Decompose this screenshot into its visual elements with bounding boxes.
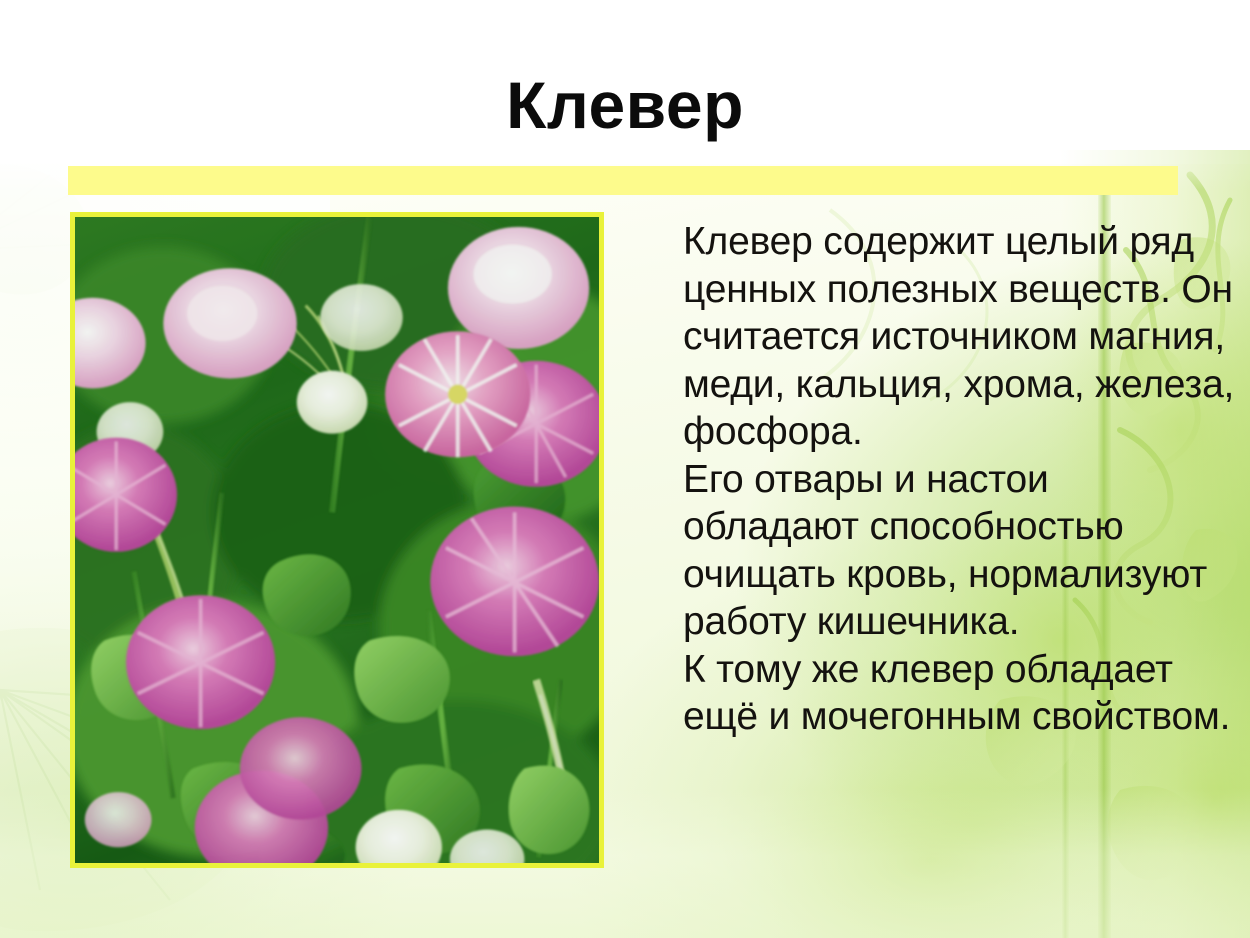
paragraph-3: К тому же клевер обладает ещё и мочегонн… xyxy=(683,646,1235,741)
paragraph-2: Его отвары и настои обладают способность… xyxy=(683,456,1235,646)
slide-title: Клевер xyxy=(0,72,1250,138)
clover-photo-illustration xyxy=(75,217,599,863)
clover-photo-frame xyxy=(70,212,604,868)
body-text-column: Клевер содержит целый ряд ценных полезны… xyxy=(683,218,1235,741)
yellow-accent-bar xyxy=(68,166,1178,195)
paragraph-1: Клевер содержит целый ряд ценных полезны… xyxy=(683,218,1235,456)
presentation-slide: Клевер xyxy=(0,0,1250,938)
